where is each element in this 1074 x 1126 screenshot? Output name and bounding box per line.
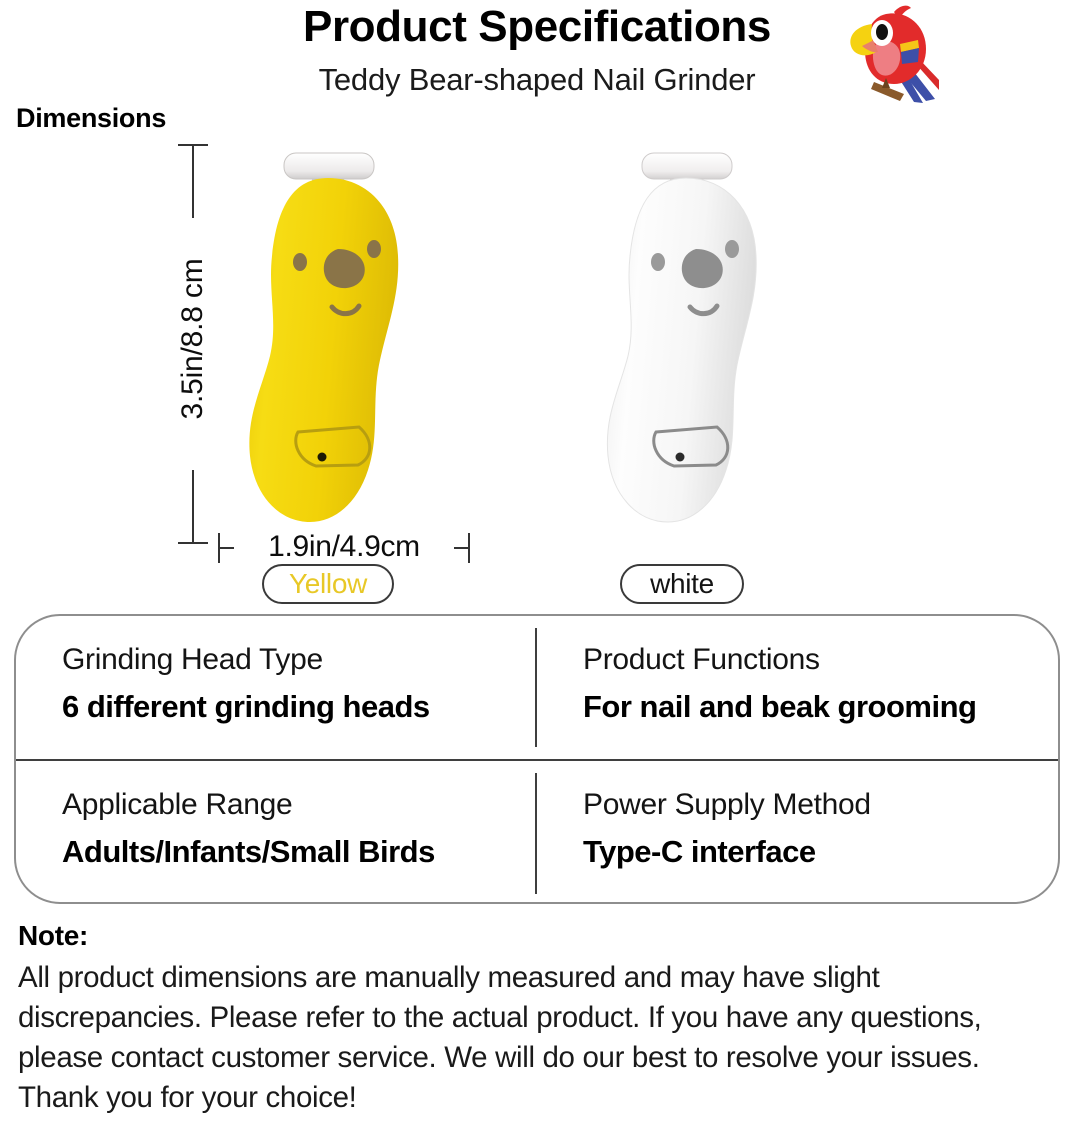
spec-key: Grinding Head Type [62, 642, 537, 678]
product-figure-white [586, 144, 786, 544]
spec-cell-grinding-head-type: Grinding Head Type 6 different grinding … [16, 616, 537, 759]
bear-eye-right-yellow [367, 240, 381, 258]
spec-key: Applicable Range [62, 787, 537, 823]
spec-cell-product-functions: Product Functions For nail and beak groo… [537, 616, 1058, 759]
grinder-head-cap-white [642, 153, 732, 179]
product-specifications-page: Product Specifications Teddy Bear-shaped… [0, 0, 1074, 1126]
table-row: Grinding Head Type 6 different grinding … [16, 616, 1058, 761]
height-ruler-cap-bottom [178, 542, 208, 544]
width-dimension-label: 1.9in/4.9cm [218, 530, 470, 564]
note-section: Note: All product dimensions are manuall… [18, 920, 1062, 1118]
header: Product Specifications Teddy Bear-shaped… [0, 0, 1074, 110]
spec-value: Type-C interface [583, 833, 1058, 870]
product-body-white [607, 178, 756, 522]
variant-label-yellow[interactable]: Yellow [262, 564, 394, 604]
indicator-led-yellow [318, 453, 327, 462]
note-title: Note: [18, 920, 1062, 952]
product-body-yellow [249, 178, 398, 522]
variant-label-white[interactable]: white [620, 564, 744, 604]
spec-key: Power Supply Method [583, 787, 1058, 823]
product-figure-yellow [228, 144, 428, 544]
product-stage: 3.5in/8.8 cm [0, 130, 1074, 610]
bear-eye-left-white [651, 253, 665, 271]
width-dimension-ruler: 1.9in/4.9cm [218, 528, 470, 568]
spec-cell-applicable-range: Applicable Range Adults/Infants/Small Bi… [16, 761, 537, 906]
height-ruler-cap-top [178, 144, 208, 146]
bear-eye-left-yellow [293, 253, 307, 271]
spec-cell-power-supply-method: Power Supply Method Type-C interface [537, 761, 1058, 906]
spec-value: 6 different grinding heads [62, 688, 537, 725]
height-dimension-ruler: 3.5in/8.8 cm [172, 144, 214, 544]
specification-table: Grinding Head Type 6 different grinding … [14, 614, 1060, 904]
spec-value: For nail and beak grooming [583, 688, 1058, 725]
height-dimension-label: 3.5in/8.8 cm [176, 214, 210, 464]
bear-eye-right-white [725, 240, 739, 258]
spec-value: Adults/Infants/Small Birds [62, 833, 537, 870]
grinder-head-cap-yellow [284, 153, 374, 179]
spec-key: Product Functions [583, 642, 1058, 678]
table-row: Applicable Range Adults/Infants/Small Bi… [16, 761, 1058, 906]
indicator-led-white [676, 453, 685, 462]
note-body: All product dimensions are manually meas… [18, 958, 1062, 1118]
parrot-icon [838, 2, 946, 110]
